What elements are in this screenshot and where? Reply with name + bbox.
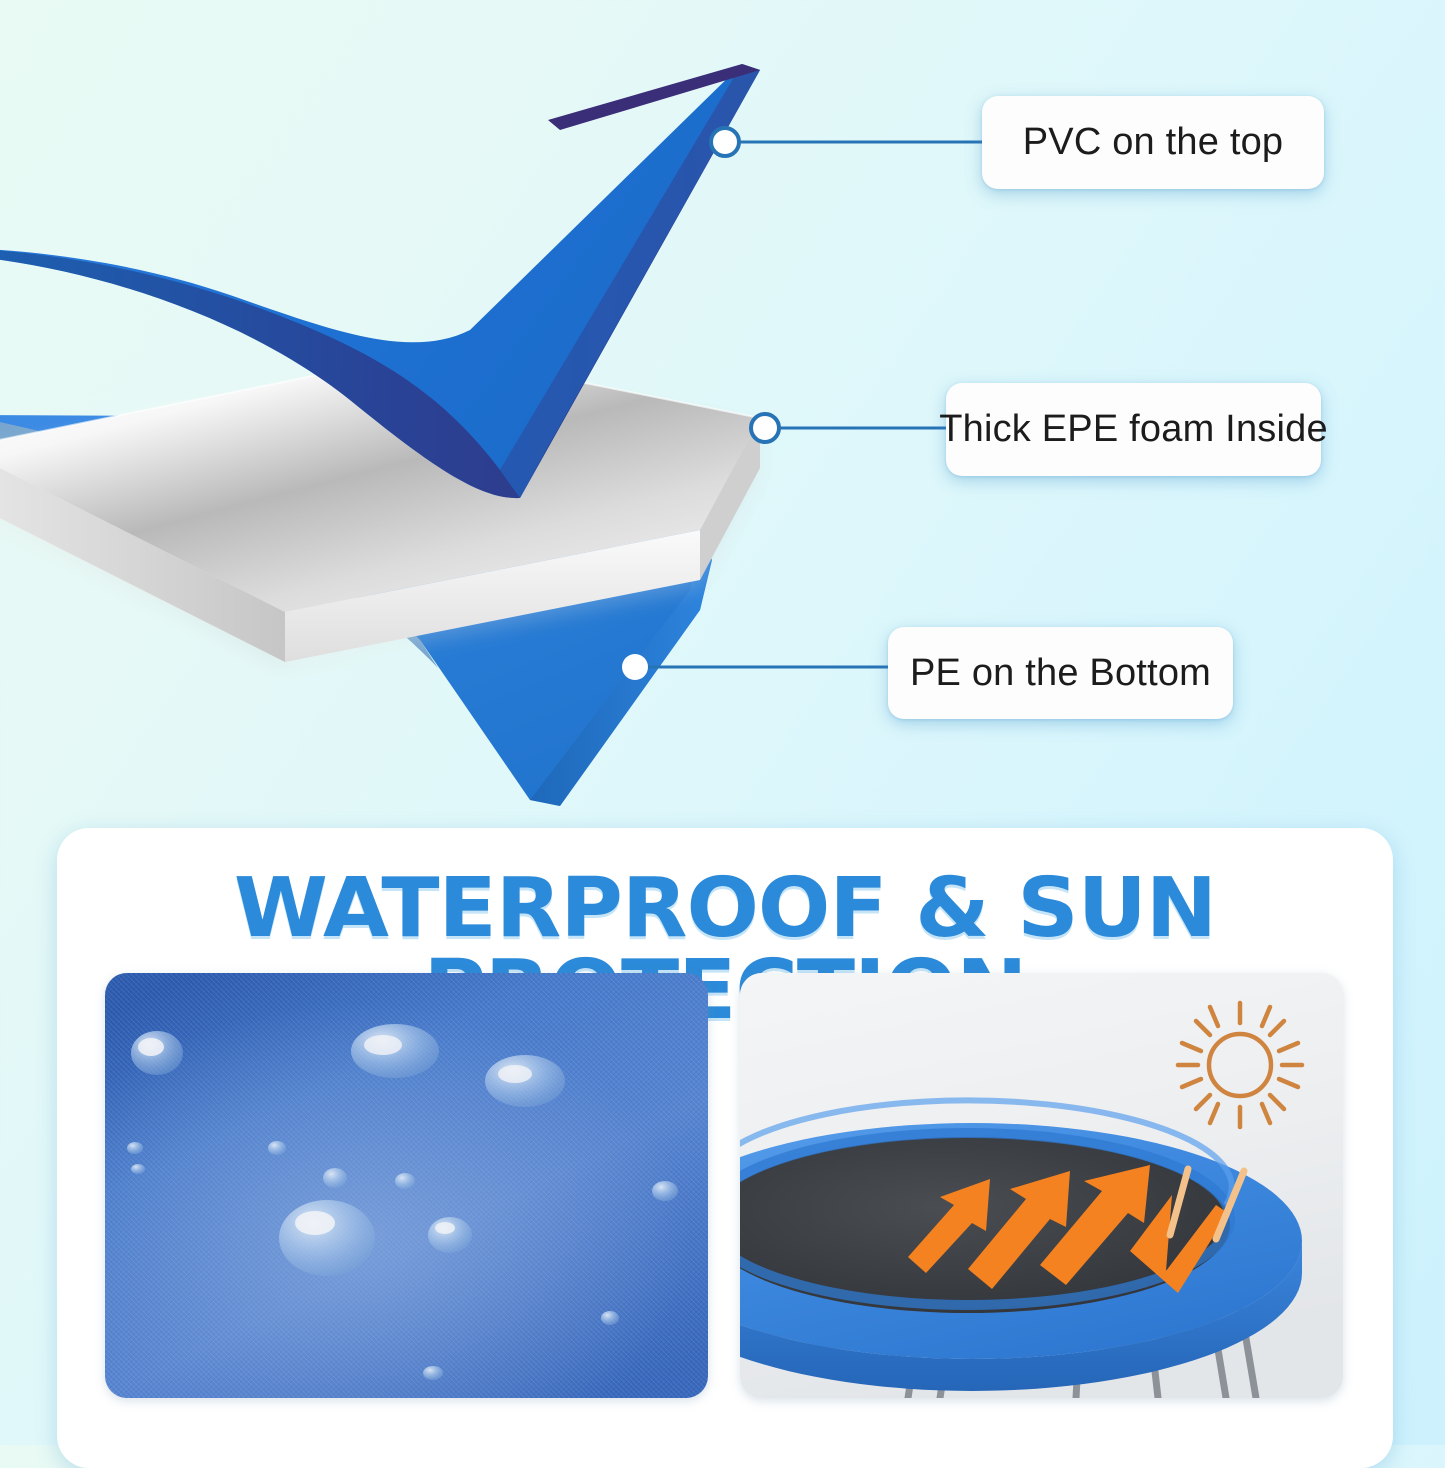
waterproof-fabric-photo (105, 973, 708, 1398)
sun-protection-photo (740, 973, 1343, 1398)
marker-pvc (711, 128, 739, 156)
callout-text-pe: PE on the Bottom (910, 652, 1211, 695)
marker-epe (751, 414, 779, 442)
marker-pe (622, 654, 648, 680)
callout-label-epe: Thick EPE foam Inside (946, 383, 1321, 476)
callout-text-epe: Thick EPE foam Inside (939, 408, 1328, 451)
callout-label-pe: PE on the Bottom (888, 627, 1233, 719)
feature-card: WATERPROOF & SUN PROTECTION (57, 828, 1393, 1468)
callout-label-pvc: PVC on the top (982, 96, 1324, 189)
callout-text-pvc: PVC on the top (1023, 121, 1284, 164)
